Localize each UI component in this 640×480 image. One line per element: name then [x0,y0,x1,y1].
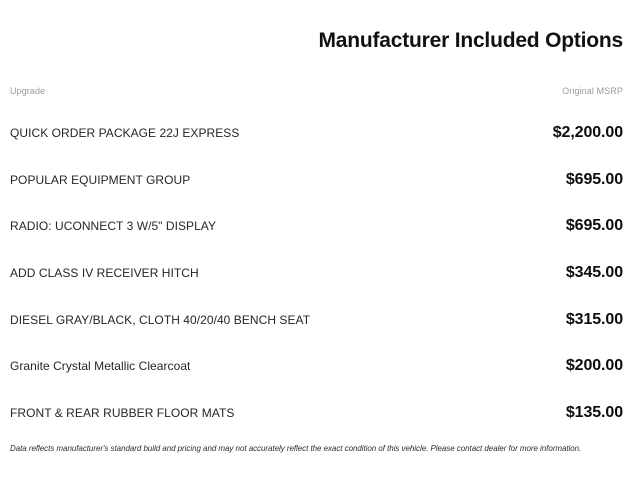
table-row: ADD CLASS IV RECEIVER HITCH$345.00 [10,250,623,297]
options-page: Manufacturer Included Options Upgrade Or… [0,0,640,480]
table-row: QUICK ORDER PACKAGE 22J EXPRESS$2,200.00 [10,110,623,157]
option-label: FRONT & REAR RUBBER FLOOR MATS [10,406,246,420]
option-price: $695.00 [566,217,623,235]
table-row: POPULAR EQUIPMENT GROUP$695.00 [10,157,623,204]
option-label: DIESEL GRAY/BLACK, CLOTH 40/20/40 BENCH … [10,313,322,327]
option-label: QUICK ORDER PACKAGE 22J EXPRESS [10,126,251,140]
option-label: POPULAR EQUIPMENT GROUP [10,173,202,187]
option-label: ADD CLASS IV RECEIVER HITCH [10,266,211,280]
options-table-body: QUICK ORDER PACKAGE 22J EXPRESS$2,200.00… [10,110,623,436]
column-header-upgrade: Upgrade [10,86,45,96]
option-price: $2,200.00 [553,124,623,142]
column-header-original-msrp: Original MSRP [562,86,623,96]
option-price: $200.00 [566,357,623,375]
page-title: Manufacturer Included Options [10,0,623,54]
option-price: $315.00 [566,311,623,329]
disclaimer-text: Data reflects manufacturer's standard bu… [10,444,623,453]
table-row: DIESEL GRAY/BLACK, CLOTH 40/20/40 BENCH … [10,296,623,343]
option-price: $695.00 [566,171,623,189]
option-label: RADIO: UCONNECT 3 W/5" DISPLAY [10,219,228,233]
table-header-row: Upgrade Original MSRP [10,86,623,96]
table-row: Granite Crystal Metallic Clearcoat$200.0… [10,343,623,390]
option-price: $345.00 [566,264,623,282]
option-price: $135.00 [566,404,623,422]
table-row: RADIO: UCONNECT 3 W/5" DISPLAY$695.00 [10,203,623,250]
table-row: FRONT & REAR RUBBER FLOOR MATS$135.00 [10,390,623,437]
option-label: Granite Crystal Metallic Clearcoat [10,359,202,373]
